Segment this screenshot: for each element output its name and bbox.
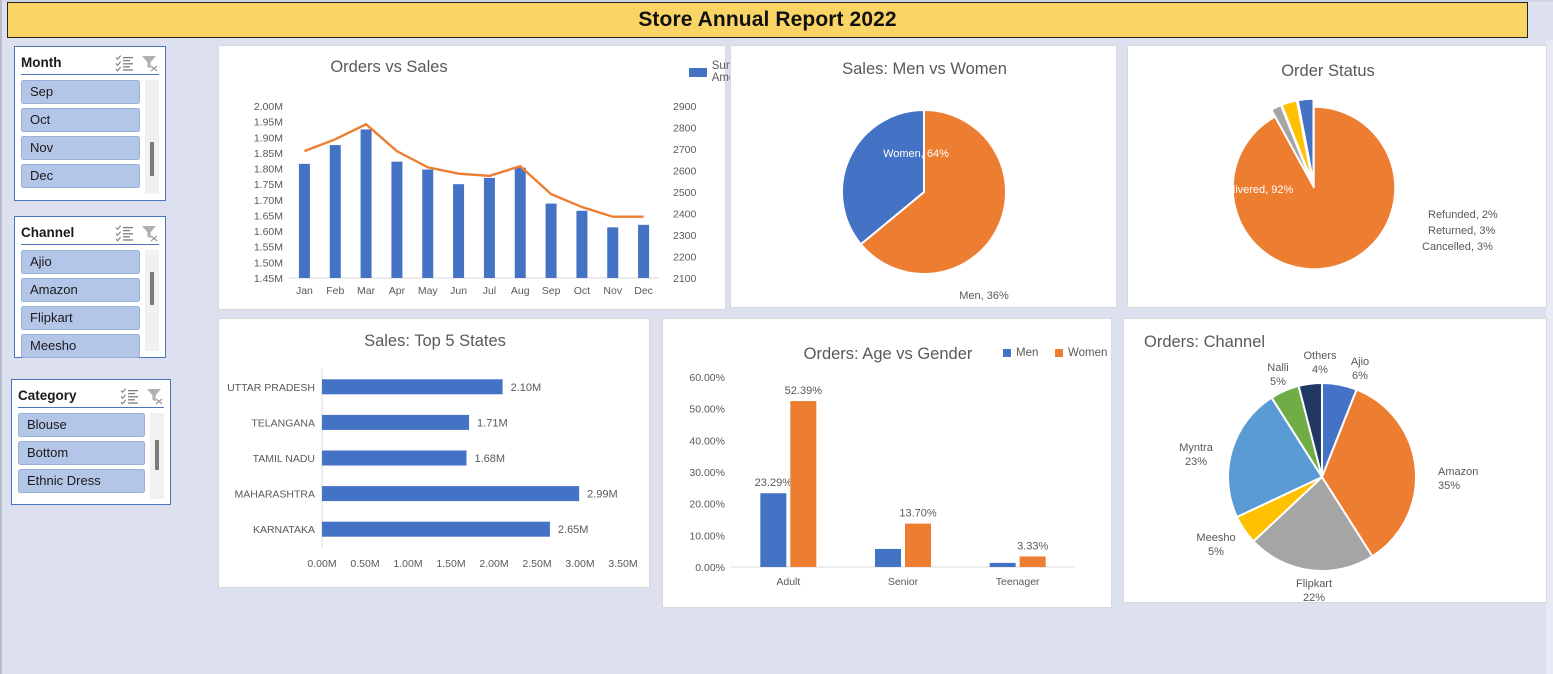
slicer-body: Ajio Amazon Flipkart Meesho [21,250,159,362]
slicer-item-amazon[interactable]: Amazon [21,278,140,302]
slicer-category[interactable]: Category Blouse Bottom Ethnic Dress [11,379,171,505]
svg-text:Meesho: Meesho [1196,532,1235,544]
svg-text:6%: 6% [1352,370,1368,382]
svg-text:4%: 4% [1312,364,1328,376]
svg-text:May: May [418,285,439,297]
svg-text:1.70M: 1.70M [254,195,283,207]
legend-swatch-women [1055,349,1063,357]
chart-title-order-status: Order Status [1128,62,1528,81]
svg-text:MAHARASHTRA: MAHARASHTRA [234,489,315,501]
slicer-body: Blouse Bottom Ethnic Dress [18,413,164,499]
slicer-scrollbar[interactable] [145,80,159,194]
svg-text:Amazon: Amazon [1438,466,1478,478]
svg-text:60.00%: 60.00% [689,372,725,384]
bar-Aug [515,168,526,278]
svg-text:Nov: Nov [603,285,622,297]
svg-text:1.45M: 1.45M [254,273,283,285]
svg-text:2600: 2600 [673,166,697,178]
svg-text:2100: 2100 [673,273,697,285]
slicer-item-ajio[interactable]: Ajio [21,250,140,274]
slicer-title: Channel [21,225,111,240]
slicer-item-ethnic-dress[interactable]: Ethnic Dress [18,469,145,493]
chart-title-sales-men-vs-women: Sales: Men vs Women [731,60,1118,79]
svg-text:22%: 22% [1303,592,1325,604]
svg-text:Jul: Jul [483,285,496,297]
svg-text:Men, 36%: Men, 36% [959,290,1009,302]
svg-text:Teenager: Teenager [996,576,1040,588]
svg-text:Others: Others [1303,350,1337,362]
svg-text:1.50M: 1.50M [436,558,465,570]
svg-text:1.50M: 1.50M [254,257,283,269]
clear-filter-icon[interactable] [144,387,164,405]
bar-Feb [330,145,341,278]
slicer-item-bottom[interactable]: Bottom [18,441,145,465]
svg-text:Feb: Feb [326,285,344,297]
multi-select-icon[interactable] [115,54,135,72]
bar-uttar-pradesh [322,379,503,394]
svg-text:1.75M: 1.75M [254,179,283,191]
slicer-item-dec[interactable]: Dec [21,164,140,188]
worksheet-left-edge [0,0,2,674]
page-title: Store Annual Report 2022 [638,8,896,32]
svg-text:Women, 64%: Women, 64% [883,148,949,160]
bar-maharashtra [322,486,579,501]
bar-Jan [299,164,310,278]
svg-text:20.00%: 20.00% [689,499,725,511]
bar-adult-men [760,493,786,567]
svg-text:1.90M: 1.90M [254,132,283,144]
legend-men: Men [1003,347,1038,359]
svg-text:Myntra: Myntra [1179,442,1214,454]
svg-text:0.50M: 0.50M [350,558,379,570]
svg-text:Jun: Jun [450,285,467,297]
svg-text:2400: 2400 [673,209,697,221]
svg-text:2800: 2800 [673,123,697,135]
chart-panel-orders-vs-sales[interactable]: Orders vs Sales Sum of Amount Count of O… [218,45,726,310]
svg-text:Mar: Mar [357,285,376,297]
svg-text:Delivered, 92%: Delivered, 92% [1219,184,1294,196]
bar-Apr [391,162,402,278]
slicer-item-flipkart[interactable]: Flipkart [21,306,140,330]
svg-text:KARNATAKA: KARNATAKA [253,524,315,536]
svg-text:0.00M: 0.00M [307,558,336,570]
bar-Jun [453,184,464,278]
chart-panel-orders-channel[interactable]: Orders: Channel Ajio6%Amazon35%Flipkart2… [1123,318,1547,603]
chart-canvas-order-status: Delivered, 92%Refunded, 2%Returned, 3%Ca… [1128,90,1548,305]
svg-text:Aug: Aug [511,285,530,297]
svg-text:35%: 35% [1438,480,1460,492]
slicer-header: Month [21,51,159,75]
slicer-item-list: Ajio Amazon Flipkart Meesho [21,250,140,362]
svg-text:UTTAR PRADESH: UTTAR PRADESH [227,382,315,394]
svg-text:TAMIL NADU: TAMIL NADU [253,453,315,465]
bar-senior-women [905,524,931,567]
bar-Oct [576,211,587,278]
svg-text:Returned, 3%: Returned, 3% [1428,225,1495,237]
svg-text:13.70%: 13.70% [899,508,937,520]
svg-text:Adult: Adult [776,576,800,588]
slicer-scrollbar[interactable] [150,413,164,499]
slicer-body: Sep Oct Nov Dec [21,80,159,194]
svg-text:Sep: Sep [542,285,561,297]
slicer-header: Channel [21,221,159,245]
svg-text:23%: 23% [1185,456,1207,468]
svg-text:2900: 2900 [673,101,697,113]
legend-swatch-bar [689,68,707,77]
bar-Nov [607,227,618,278]
slicer-scroll-thumb[interactable] [150,272,154,305]
svg-text:10.00%: 10.00% [689,530,725,542]
svg-text:1.80M: 1.80M [254,164,283,176]
svg-text:0.00%: 0.00% [695,562,725,574]
svg-text:5%: 5% [1208,546,1224,558]
svg-text:Oct: Oct [574,285,590,297]
svg-text:Refunded, 2%: Refunded, 2% [1428,209,1498,221]
bar-karnataka [322,522,550,537]
slicer-scrollbar[interactable] [145,250,159,351]
bar-Mar [361,129,372,278]
svg-text:2200: 2200 [673,252,697,264]
dashboard-title-banner: Store Annual Report 2022 [7,2,1528,38]
legend-label: Men [1016,347,1038,359]
svg-text:Ajio: Ajio [1351,356,1369,368]
svg-text:23.29%: 23.29% [755,477,793,489]
legend-label: Women [1068,347,1107,359]
svg-text:1.71M: 1.71M [477,417,508,429]
slicer-header: Category [18,384,164,408]
svg-text:3.00M: 3.00M [565,558,594,570]
svg-text:50.00%: 50.00% [689,404,725,416]
legend-swatch-men [1003,349,1011,357]
svg-text:2500: 2500 [673,187,697,199]
bar-adult-women [790,401,816,567]
svg-text:1.55M: 1.55M [254,242,283,254]
multi-select-icon[interactable] [115,224,135,242]
slicer-item-meesho[interactable]: Meesho [21,334,140,358]
chart-canvas-orders-age-vs-gender: 0.00%10.00%20.00%30.00%40.00%50.00%60.00… [663,367,1113,607]
chart-canvas-sales-men-vs-women: Women, 64%Men, 36% [731,92,1118,307]
chart-panel-sales-men-vs-women[interactable]: Sales: Men vs Women Women, 64%Men, 36% [730,45,1117,308]
bar-senior-men [875,549,901,567]
bar-teenager-women [1020,556,1046,567]
bar-telangana [322,415,469,430]
svg-text:3.50M: 3.50M [608,558,637,570]
svg-text:1.85M: 1.85M [254,148,283,160]
svg-text:1.68M: 1.68M [474,453,505,465]
svg-text:Nalli: Nalli [1267,362,1288,374]
svg-text:1.60M: 1.60M [254,226,283,238]
svg-text:Apr: Apr [389,285,406,297]
svg-text:2.50M: 2.50M [522,558,551,570]
bar-Sep [546,204,557,278]
svg-text:1.95M: 1.95M [254,117,283,129]
slicer-item-nov[interactable]: Nov [21,136,140,160]
svg-text:Senior: Senior [888,576,919,588]
slicer-item-sep[interactable]: Sep [21,80,140,104]
bar-May [422,169,433,278]
chart-panel-orders-age-vs-gender[interactable]: Orders: Age vs Gender Men Women 0.00%10.… [662,318,1112,608]
chart-canvas-orders-channel: Ajio6%Amazon35%Flipkart22%Meesho5%Myntra… [1124,329,1548,604]
slicer-item-list: Sep Oct Nov Dec [21,80,140,194]
clear-filter-icon[interactable] [139,224,159,242]
legend-women: Women [1055,347,1107,359]
svg-text:1.65M: 1.65M [254,210,283,222]
slicer-item-oct[interactable]: Oct [21,108,140,132]
svg-text:30.00%: 30.00% [689,467,725,479]
slicer-item-blouse[interactable]: Blouse [18,413,145,437]
svg-text:1.00M: 1.00M [393,558,422,570]
slicer-scroll-thumb[interactable] [155,440,159,470]
bar-teenager-men [990,563,1016,567]
chart-panel-order-status[interactable]: Order Status Delivered, 92%Refunded, 2%R… [1127,45,1547,308]
chart-canvas-sales-top-5-states: UTTAR PRADESH2.10MTELANGANA1.71MTAMIL NA… [219,357,651,587]
slicer-item-list: Blouse Bottom Ethnic Dress [18,413,145,499]
bar-tamil-nadu [322,451,466,466]
line-count-of-order-id [304,124,643,216]
svg-text:TELANGANA: TELANGANA [251,417,315,429]
chart-panel-sales-top-5-states[interactable]: Sales: Top 5 States UTTAR PRADESH2.10MTE… [218,318,650,588]
svg-text:2.65M: 2.65M [558,524,589,536]
svg-text:2.99M: 2.99M [587,489,618,501]
slicer-channel[interactable]: Channel Ajio Amazon Flipkart Meesho [14,216,166,358]
svg-text:Dec: Dec [634,285,653,297]
svg-text:2700: 2700 [673,144,697,156]
svg-text:Flipkart: Flipkart [1296,578,1332,590]
svg-text:2.00M: 2.00M [479,558,508,570]
bar-Dec [638,225,649,278]
slicer-scroll-thumb[interactable] [150,142,154,176]
svg-text:2.10M: 2.10M [511,382,542,394]
svg-text:52.39%: 52.39% [785,385,823,397]
svg-text:2300: 2300 [673,230,697,242]
svg-text:40.00%: 40.00% [689,435,725,447]
bar-Jul [484,178,495,278]
svg-text:5%: 5% [1270,376,1286,388]
slicer-title: Month [21,55,111,70]
chart-title-orders-vs-sales: Orders vs Sales [294,58,484,77]
chart-canvas-orders-vs-sales: 1.45M1.50M1.55M1.60M1.65M1.70M1.75M1.80M… [219,86,727,311]
slicer-month[interactable]: Month Sep Oct Nov Dec [14,46,166,201]
chart-title-sales-top-5-states: Sales: Top 5 States [219,332,651,351]
svg-text:Jan: Jan [296,285,313,297]
multi-select-icon[interactable] [120,387,140,405]
svg-text:2.00M: 2.00M [254,101,283,113]
clear-filter-icon[interactable] [139,54,159,72]
chart-title-orders-age-vs-gender: Orders: Age vs Gender [663,345,1113,364]
slicer-title: Category [18,388,116,403]
svg-text:3.33%: 3.33% [1017,540,1048,552]
svg-text:Cancelled, 3%: Cancelled, 3% [1422,241,1493,253]
